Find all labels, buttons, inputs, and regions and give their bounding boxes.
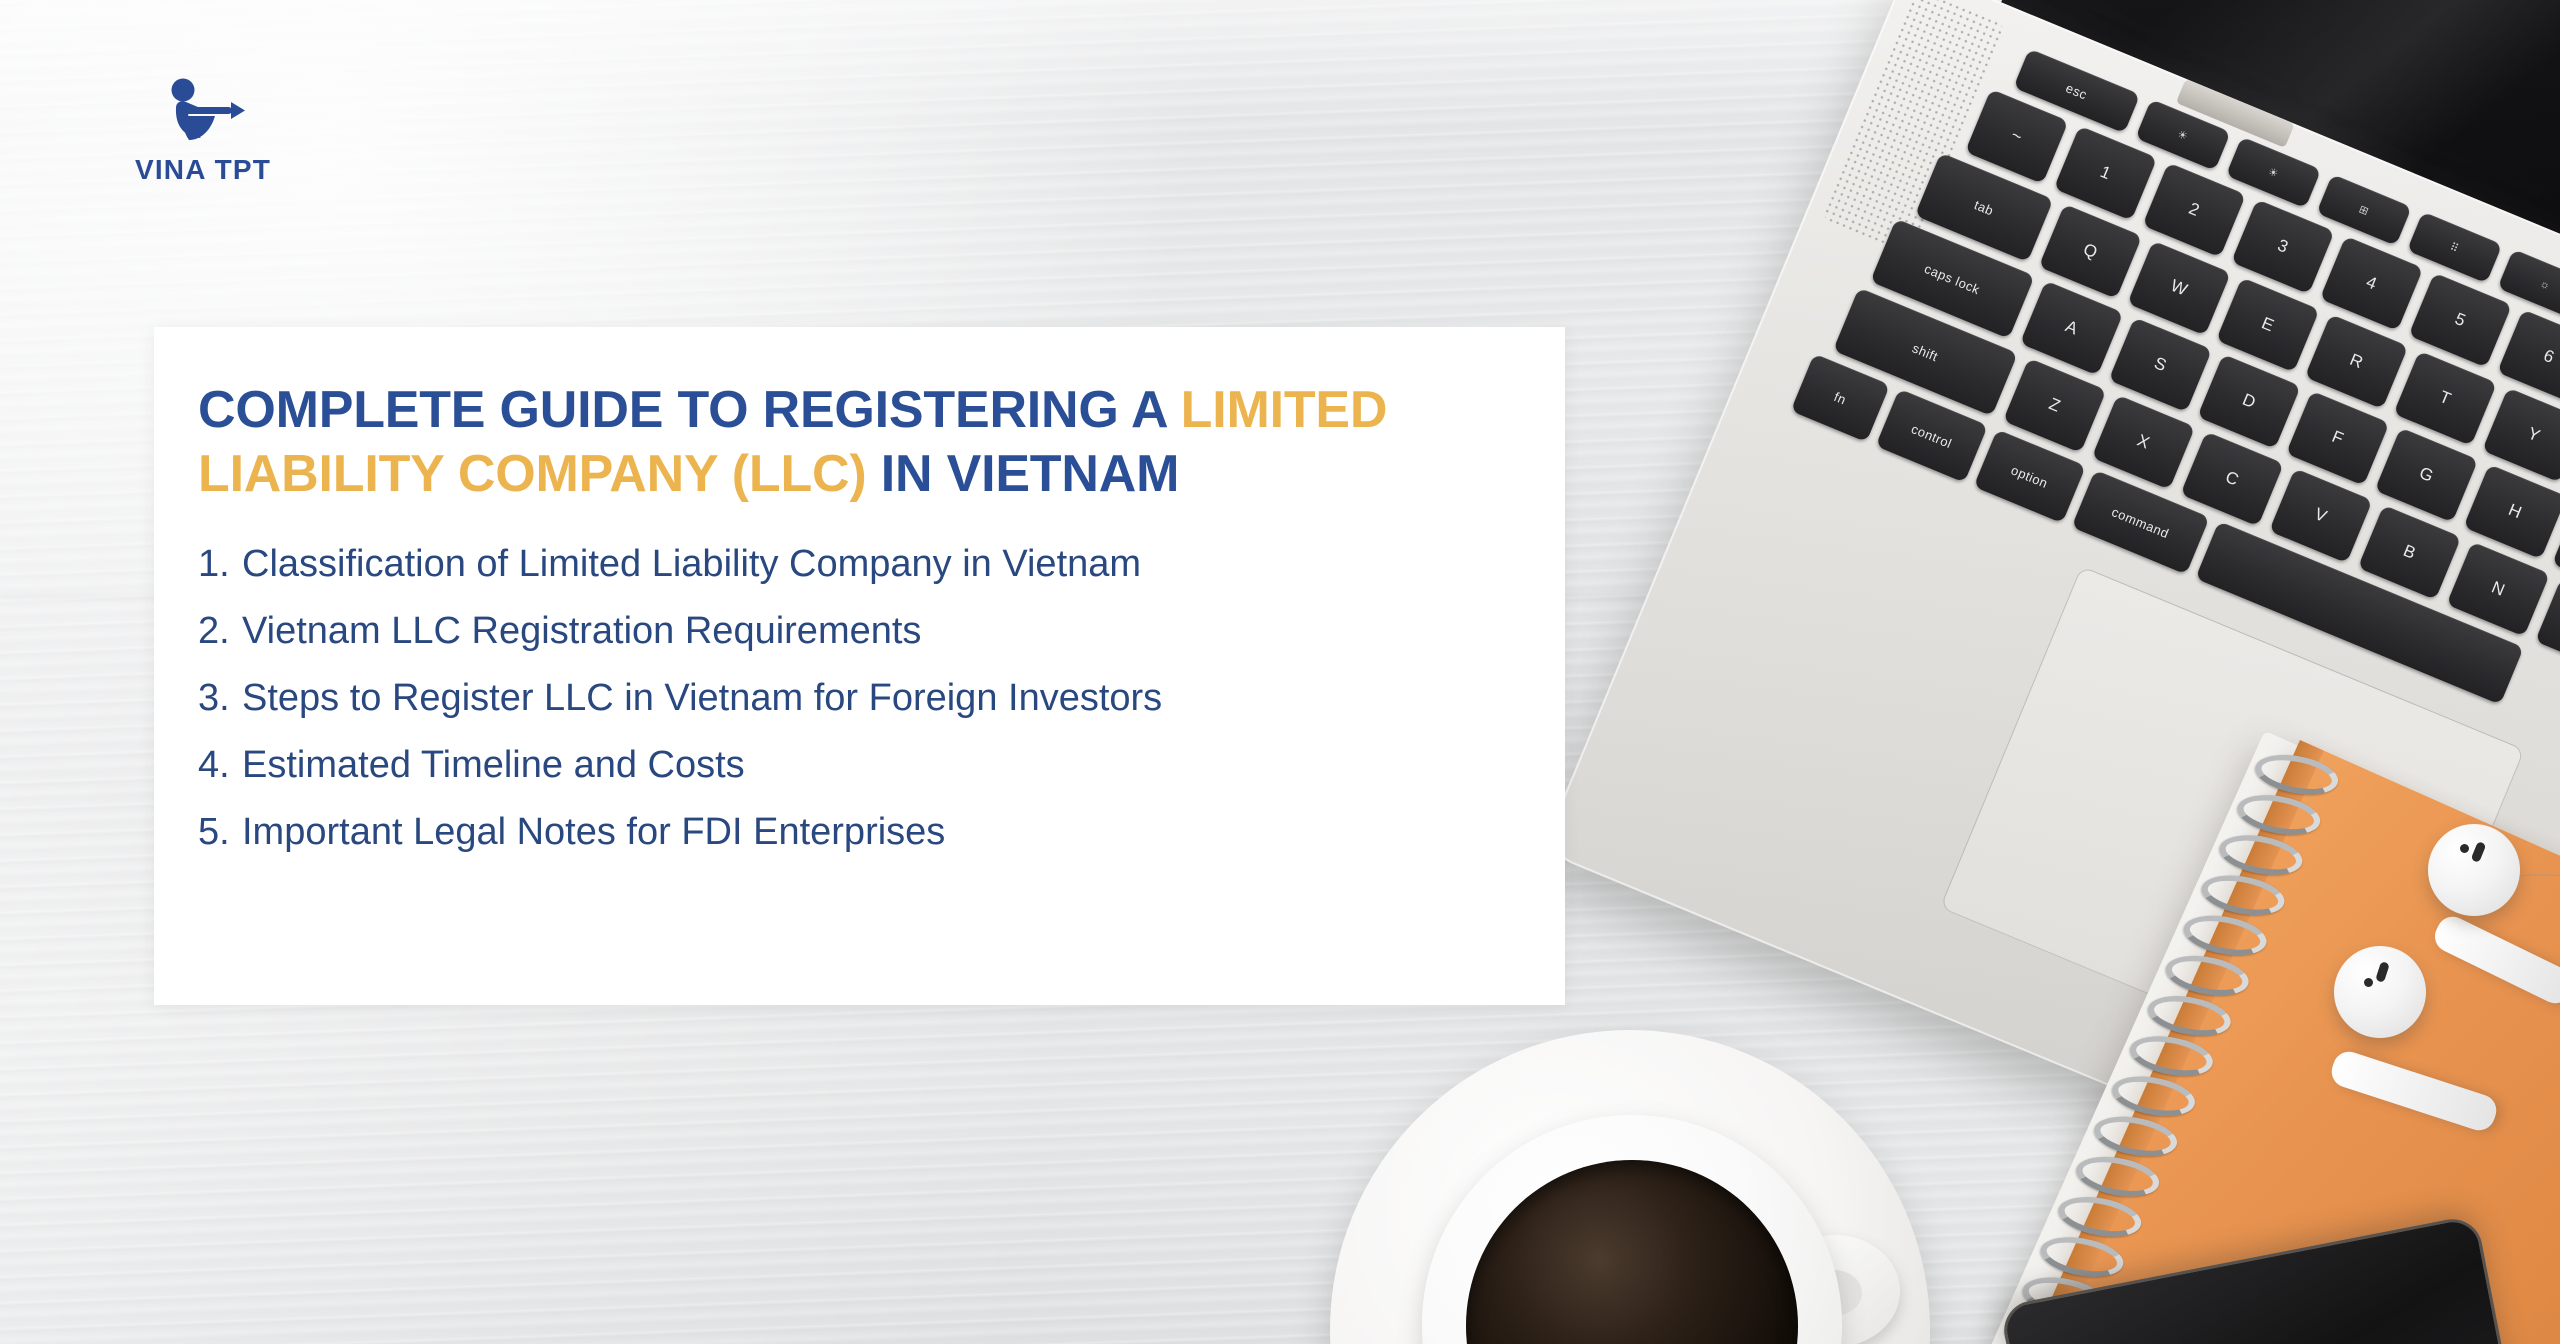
- list-item-number: 2.: [198, 612, 242, 650]
- list-item-label: Vietnam LLC Registration Requirements: [242, 612, 921, 650]
- earphone-bud-right: [2428, 824, 2520, 916]
- title-segment-plain-1: COMPLETE GUIDE TO REGISTERING A: [198, 381, 1181, 439]
- list-item-number: 4.: [198, 746, 242, 784]
- page-title: COMPLETE GUIDE TO REGISTERING A LIMITED …: [198, 379, 1505, 507]
- content-card: COMPLETE GUIDE TO REGISTERING A LIMITED …: [154, 327, 1565, 1005]
- list-item-number: 1.: [198, 545, 242, 583]
- earphones: [2300, 760, 2560, 1180]
- list-item-label: Classification of Limited Liability Comp…: [242, 545, 1141, 583]
- title-segment-highlight-2: LIABILITY COMPANY (LLC): [198, 445, 881, 503]
- key-6: 6: [2497, 309, 2560, 404]
- slide-canvas: esc ☀ ☀ ⊞ ⠿ ☼ ☼ ◁◁ ▷ ~ 1 2 3 4 5 6 7 8 9…: [0, 0, 2560, 1344]
- brand-logo[interactable]: VINA TPT: [88, 52, 318, 186]
- title-segment-plain-2: IN VIETNAM: [881, 445, 1179, 503]
- title-segment-highlight-1: LIMITED: [1181, 381, 1388, 439]
- list-item[interactable]: 2. Vietnam LLC Registration Requirements: [198, 612, 1505, 650]
- archer-bow-person-icon: [153, 52, 253, 152]
- list-item[interactable]: 4. Estimated Timeline and Costs: [198, 746, 1505, 784]
- table-of-contents: 1. Classification of Limited Liability C…: [198, 545, 1505, 851]
- list-item-label: Steps to Register LLC in Vietnam for For…: [242, 679, 1162, 717]
- list-item[interactable]: 3. Steps to Register LLC in Vietnam for …: [198, 679, 1505, 717]
- list-item[interactable]: 1. Classification of Limited Liability C…: [198, 545, 1505, 583]
- coffee-cup-and-saucer: [1330, 1020, 1970, 1344]
- earphone-bud-left-hole: [2364, 978, 2373, 987]
- list-item-label: Estimated Timeline and Costs: [242, 746, 745, 784]
- brand-name: VINA TPT: [88, 154, 318, 186]
- list-item-label: Important Legal Notes for FDI Enterprise…: [242, 813, 945, 851]
- earphone-bud-right-hole: [2460, 844, 2469, 853]
- list-item[interactable]: 5. Important Legal Notes for FDI Enterpr…: [198, 813, 1505, 851]
- list-item-number: 3.: [198, 679, 242, 717]
- list-item-number: 5.: [198, 813, 242, 851]
- earphone-bud-left: [2334, 946, 2426, 1038]
